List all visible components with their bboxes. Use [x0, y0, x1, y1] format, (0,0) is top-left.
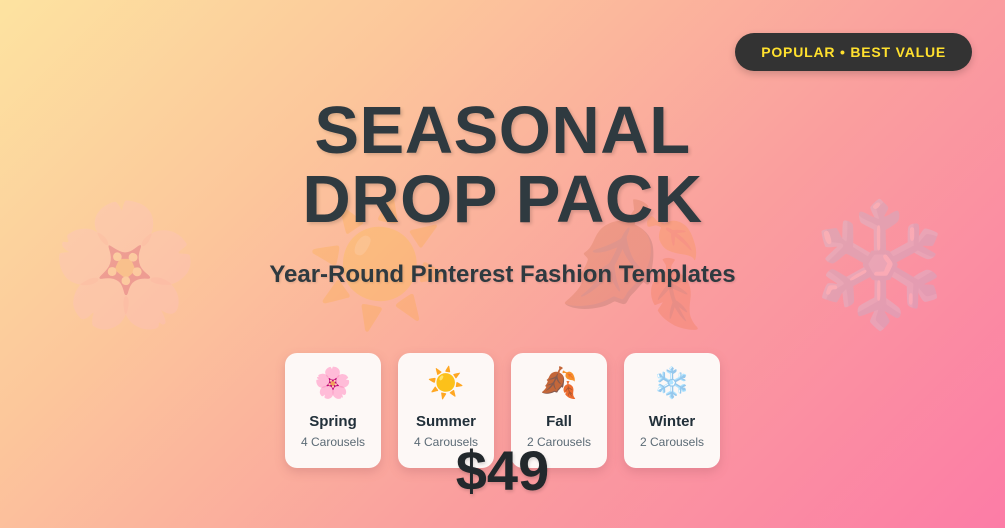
hero-section: SEASONAL DROP PACK Year-Round Pinterest …: [0, 0, 1005, 289]
season-card-title: Spring: [309, 413, 357, 430]
page-title-line-2: DROP PACK: [0, 165, 1005, 234]
season-card-title: Fall: [546, 413, 572, 430]
season-card-title: Winter: [649, 413, 696, 430]
price-amount: $49: [0, 438, 1005, 503]
season-card-title: Summer: [416, 413, 476, 430]
page-title-line-1: SEASONAL: [0, 96, 1005, 165]
sun-icon: ☀️: [427, 369, 464, 405]
page-title: SEASONAL DROP PACK: [0, 96, 1005, 234]
fallen-leaf-icon: 🍂: [540, 369, 577, 405]
page-subtitle: Year-Round Pinterest Fashion Templates: [0, 261, 1005, 289]
snowflake-icon: ❄️: [653, 369, 690, 405]
cherry-blossom-icon: 🌸: [314, 369, 351, 405]
